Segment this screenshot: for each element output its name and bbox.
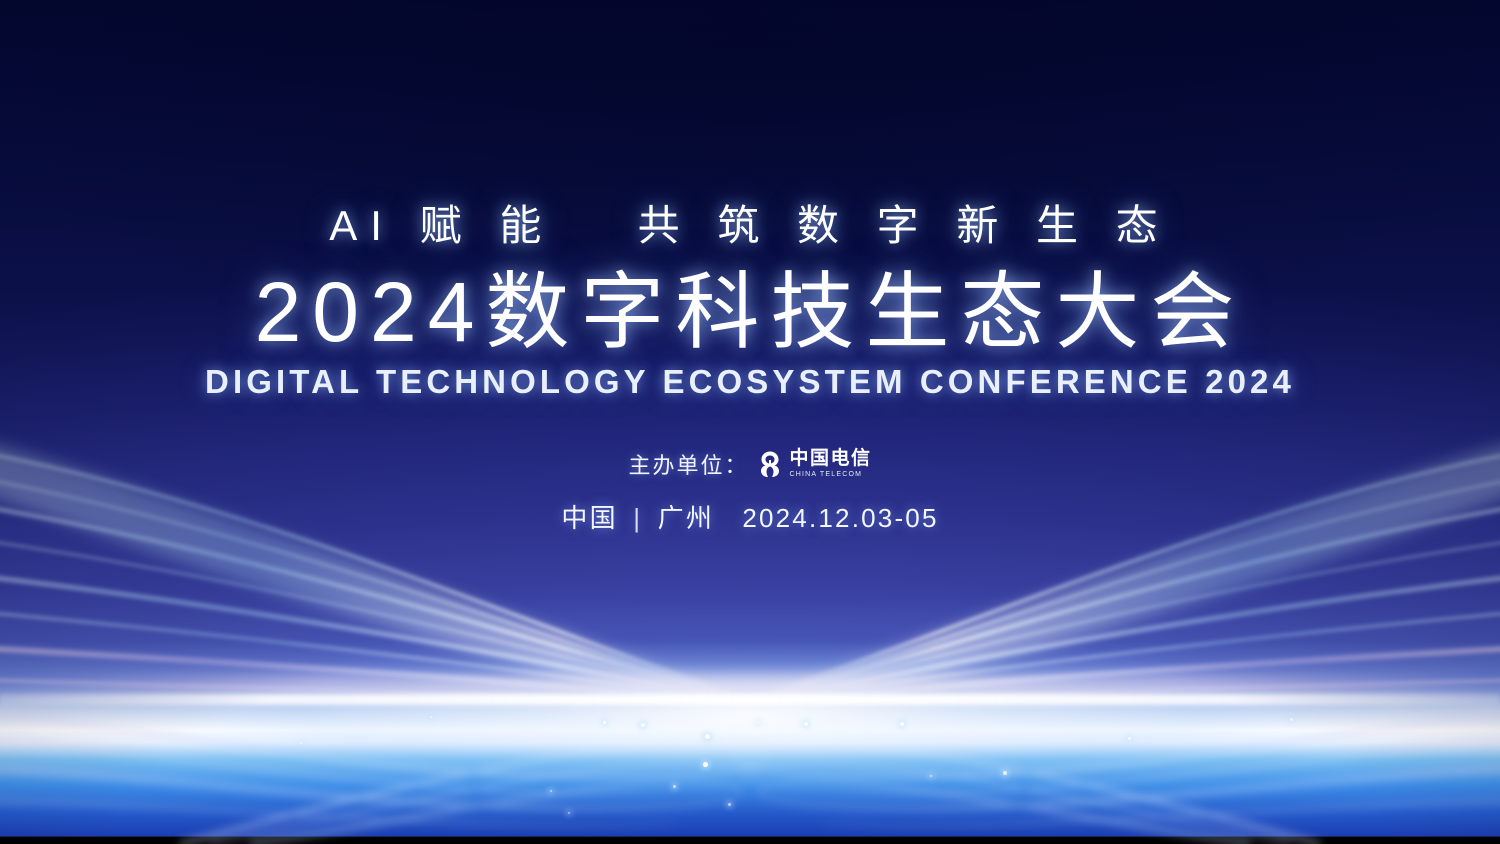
conference-banner: AI 赋 能 共 筑 数 字 新 生 态 2024数字科技生态大会 DIGITA… [0, 0, 1500, 844]
background-gradient [0, 0, 1500, 844]
